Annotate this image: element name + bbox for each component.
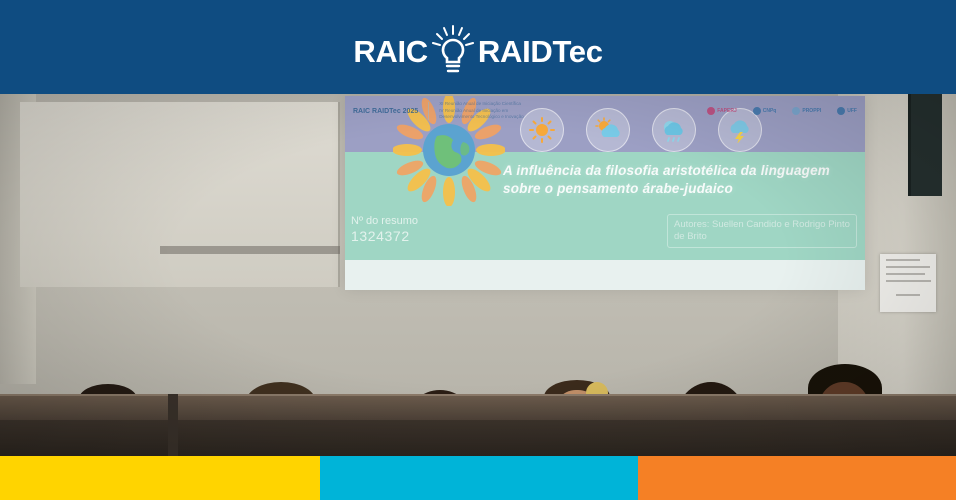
lightbulb-icon [432, 25, 474, 77]
event-line-3: Desenvolvimento Tecnológico e Inovação [439, 114, 523, 120]
abstract-number: 1324372 [351, 228, 418, 245]
event-line-1: XI Reunião Anual de Iniciação Científica [439, 101, 523, 107]
uff-mark [837, 107, 845, 115]
brand-right-text: RAIDTec [478, 36, 603, 67]
whiteboard [20, 102, 340, 287]
slide-title: A influência da filosofia aristotélica d… [503, 162, 853, 198]
footer-color-bar [0, 456, 956, 500]
authors-box: Autores: Suellen Candido e Rodrigo Pinto… [667, 214, 857, 248]
sponsor-cnpq: CNPq [753, 107, 777, 115]
cnpq-mark [753, 107, 761, 115]
page-root: RAIC RAIDTec [0, 0, 956, 500]
projected-slide: A influência da filosofia aristotélica d… [345, 96, 865, 290]
footer-divider [428, 102, 429, 120]
sponsor-logos: FAPERJ CNPq PROPPI UFF [707, 107, 857, 115]
footer-segment-orange [638, 456, 956, 500]
faperj-label: FAPERJ [717, 108, 736, 114]
table-front-panel [0, 420, 956, 456]
board-tray [160, 246, 340, 254]
table-leg [168, 394, 178, 456]
faperj-mark [707, 107, 715, 115]
cnpq-label: CNPq [763, 108, 777, 114]
sponsor-proppi: PROPPI [792, 107, 821, 115]
footer-segment-cyan [320, 456, 638, 500]
site-header: RAIC RAIDTec [0, 0, 956, 94]
table-surface [0, 394, 956, 420]
sun-icon [520, 108, 564, 152]
wall-notice-paper [880, 254, 936, 312]
uff-label: UFF [847, 108, 857, 114]
footer-segment-yellow [0, 456, 320, 500]
abstract-number-block: Nº do resumo 1324372 [351, 214, 418, 245]
event-photo: A influência da filosofia aristotélica d… [0, 94, 956, 456]
sun-cloud-icon [586, 108, 630, 152]
proppi-label: PROPPI [802, 108, 821, 114]
slide-footer-band [345, 260, 865, 290]
slide-event-lines: XI Reunião Anual de Iniciação Científica… [439, 101, 523, 120]
proppi-mark [792, 107, 800, 115]
rain-cloud-icon [652, 108, 696, 152]
brand-left-text: RAIC [353, 36, 428, 67]
wall-monitor [908, 94, 942, 196]
abstract-label: Nº do resumo [351, 214, 418, 228]
sponsor-faperj: FAPERJ [707, 107, 736, 115]
sponsor-uff: UFF [837, 107, 857, 115]
slide-event-logo: RAIC RAIDTec 2025 [353, 108, 418, 115]
raic-raidtec-logo[interactable]: RAIC RAIDTec [353, 25, 602, 77]
